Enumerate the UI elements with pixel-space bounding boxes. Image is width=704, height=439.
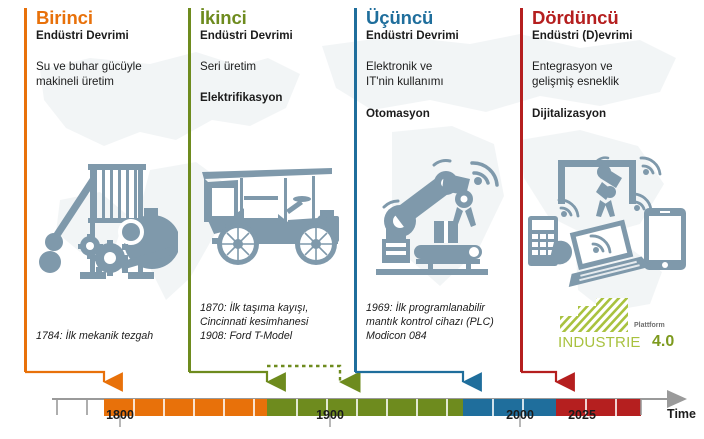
plattform-industrie-logo: Plattform INDUSTRIE 4.0 <box>556 296 686 354</box>
era-title-third: Üçüncü <box>366 8 514 27</box>
era-description-third: Elektronik ve IT'nin kullanımı <box>366 59 514 90</box>
era-keyword-third: Otomasyon <box>366 106 514 121</box>
industrie-mark-icon <box>556 296 648 336</box>
connector-arrow-1969 <box>355 372 463 382</box>
mechanical-loom-icon <box>28 150 186 295</box>
connector-arrow-1870 <box>189 372 267 382</box>
axis-tick-label-2000: 2000 <box>506 408 534 422</box>
timeline-segments <box>104 399 641 416</box>
era-subtitle-second: Endüstri Devrimi <box>200 29 348 42</box>
logo-plattform-label: Plattform <box>634 322 665 329</box>
era-note-second: 1870: İlk taşıma kayışı, Cincinnati kesi… <box>200 302 308 344</box>
axis-tick-label-1800: 1800 <box>106 408 134 422</box>
robot-arm-conveyor-icon <box>358 153 518 298</box>
era-keyword-fourth: Dijitalizasyon <box>532 106 700 121</box>
connector-arrow-1784 <box>25 372 104 382</box>
era-note-first: 1784: İlk mekanik tezgah <box>36 330 153 344</box>
logo-industrie-label: INDUSTRIE <box>558 334 641 351</box>
logo-version-label: 4.0 <box>652 333 674 351</box>
era-column-second: İkinci Endüstri Devrimi Seri üretim Elek… <box>188 8 348 372</box>
era-keyword-second: Elektrifikasyon <box>200 90 348 105</box>
era-divider-third <box>354 8 357 372</box>
era-divider-fourth <box>520 8 523 372</box>
era-subtitle-fourth: Endüstri (D)evrimi <box>532 29 700 42</box>
axis-tick-label-1900: 1900 <box>316 408 344 422</box>
vintage-automobile-icon <box>192 158 352 303</box>
era-description-second: Seri üretim <box>200 59 348 75</box>
connected-devices-icon <box>520 146 700 291</box>
era-note-third: 1969: İlk programlanabilir mantık kontro… <box>366 302 494 344</box>
timeline-axis: 1800 1900 2000 2025 Time <box>0 385 704 439</box>
axis-tick-label-2025: 2025 <box>568 408 596 422</box>
era-subtitle-third: Endüstri Devrimi <box>366 29 514 42</box>
era-subtitle-first: Endüstri Devrimi <box>36 29 182 42</box>
era-description-first: Su ve buhar gücüyle makineli üretim <box>36 59 182 90</box>
infographic-root: Birinci Endüstri Devrimi Su ve buhar güc… <box>0 0 704 439</box>
axis-label-time: Time <box>667 407 696 421</box>
era-description-fourth: Entegrasyon ve gelişmiş esneklik <box>532 59 700 90</box>
era-column-third: Üçüncü Endüstri Devrimi Elektronik ve IT… <box>354 8 514 372</box>
era-title-second: İkinci <box>200 8 348 27</box>
era-divider-second <box>188 8 191 372</box>
era-title-fourth: Dördüncü <box>532 8 700 27</box>
connector-arrow-2013 <box>521 372 556 382</box>
era-column-first: Birinci Endüstri Devrimi Su ve buhar güc… <box>24 8 182 372</box>
era-divider-first <box>24 8 27 372</box>
era-title-first: Birinci <box>36 8 182 27</box>
